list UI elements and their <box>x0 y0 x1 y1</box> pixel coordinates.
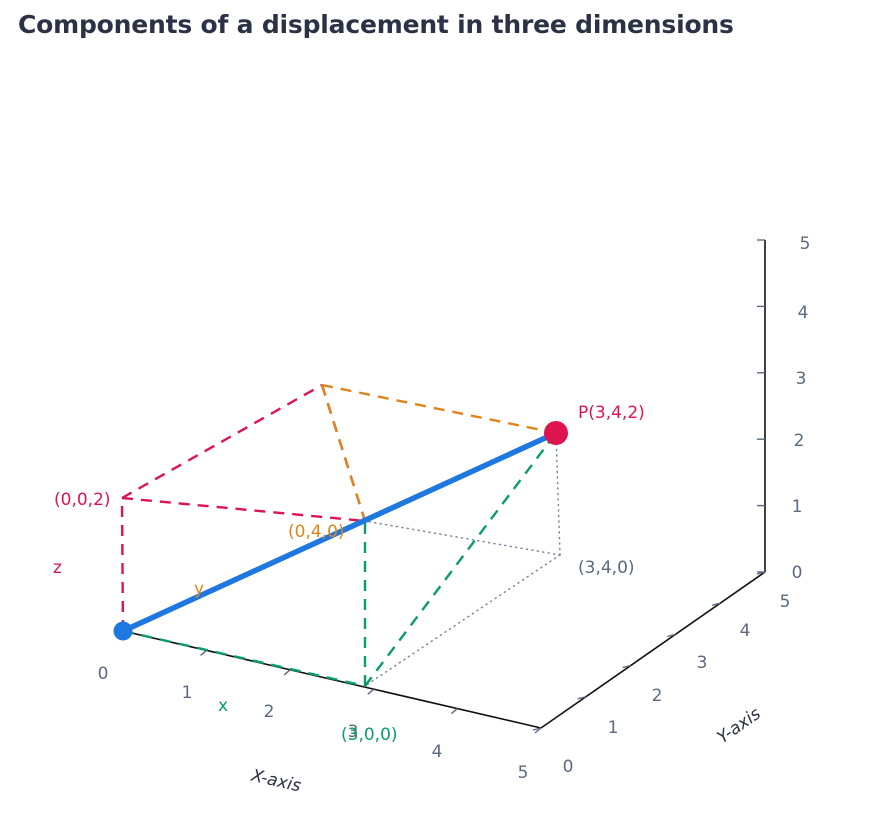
origin-point-marker[interactable] <box>114 622 133 641</box>
y-tick-label-3: 3 <box>697 653 708 673</box>
z-tick-label-1: 1 <box>792 497 803 517</box>
z-tick-label-5: 5 <box>800 234 811 254</box>
guide-base-to-y <box>365 521 560 555</box>
x-tick-4 <box>451 709 457 714</box>
y-tick-label-1: 1 <box>608 718 619 738</box>
component-label-y: y <box>194 579 204 599</box>
y-axis-label: Y-axis <box>714 704 765 748</box>
z-component-line <box>122 498 123 631</box>
y-tick-label-4: 4 <box>740 621 751 641</box>
y-plane-vert <box>322 385 365 521</box>
y-tick-label-5: 5 <box>780 592 791 612</box>
y-plane-top <box>322 385 556 433</box>
component-label-x: x <box>218 696 228 716</box>
z-tick-label-4: 4 <box>798 303 809 323</box>
annotation-x-point: (3,0,0) <box>341 725 398 745</box>
x-tick-1 <box>201 650 207 655</box>
annotation-p: P(3,4,2) <box>578 403 645 423</box>
annotation-y-point: (0,4,0) <box>288 522 345 542</box>
z-axis-ticks <box>757 240 765 572</box>
z-tick-label-2: 2 <box>794 431 805 451</box>
y-tick-label-2: 2 <box>652 686 663 706</box>
z-plane-edge-top <box>122 385 322 498</box>
annotation-z-point: (0,0,2) <box>54 490 111 510</box>
projection-guides <box>123 433 560 686</box>
point-p-marker[interactable] <box>544 421 568 445</box>
plot-3d-svg: 0 1 2 3 4 5 X-axis 0 1 2 3 4 5 Y-axis <box>0 0 875 825</box>
annotation-base-point: (3,4,0) <box>578 558 635 578</box>
guide-base-to-x <box>365 555 560 686</box>
y-tick-label-0: 0 <box>563 757 574 777</box>
x-tick-3 <box>368 689 374 694</box>
y-axis-tick-labels: 0 1 2 3 4 5 <box>563 592 791 777</box>
x-axis-label: X-axis <box>248 766 303 797</box>
x-tick-label-0: 0 <box>98 664 109 684</box>
z-tick-label-3: 3 <box>796 369 807 389</box>
x-axis-tick-labels: 0 1 2 3 4 5 <box>98 664 529 783</box>
z-tick-label-0: 0 <box>792 563 803 583</box>
x-tick-label-5: 5 <box>518 763 529 783</box>
chart-canvas: Components of a displacement in three di… <box>0 0 875 825</box>
x-tick-2 <box>284 670 290 675</box>
x-component-group <box>123 433 556 686</box>
component-label-z: z <box>53 558 62 578</box>
x-tick-label-4: 4 <box>432 742 443 762</box>
z-plane-edge-diag <box>122 498 365 521</box>
x-axis-ticks <box>117 631 541 733</box>
z-component-group <box>122 385 365 631</box>
guide-p-to-base <box>556 433 560 555</box>
x-to-p-line <box>365 433 556 686</box>
y-component-group <box>123 385 556 631</box>
x-tick-label-1: 1 <box>182 683 193 703</box>
z-axis-tick-labels: 0 1 2 3 4 5 <box>792 234 811 583</box>
x-tick-label-2: 2 <box>264 702 275 722</box>
